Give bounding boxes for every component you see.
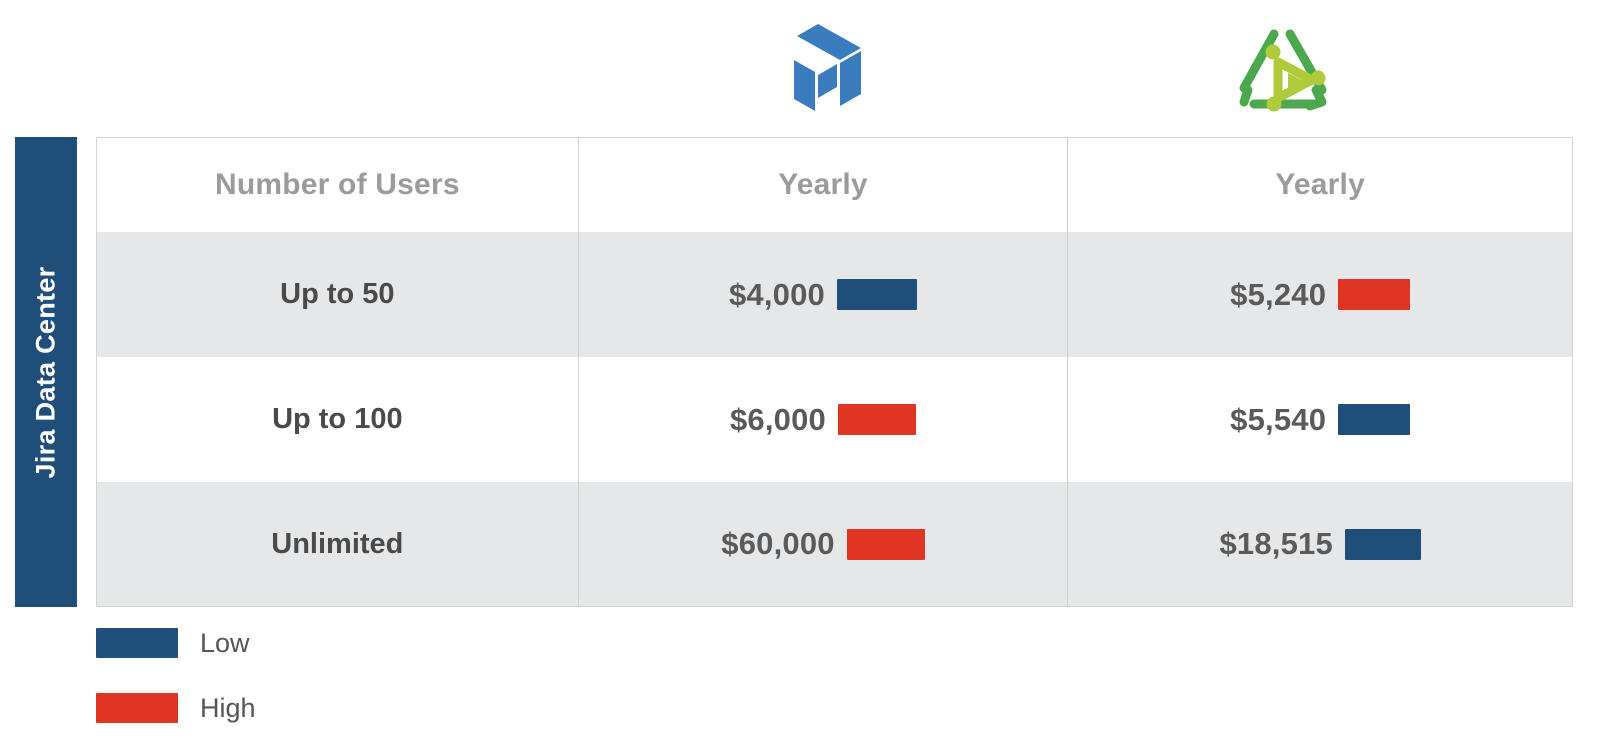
- pricing-table: Number of Users Yearly Yearly Up to 50 $…: [96, 137, 1573, 607]
- cell-users-tier: Unlimited: [97, 482, 578, 606]
- price-level-bar: [838, 404, 916, 435]
- legend-label-high: High: [200, 693, 256, 724]
- cell-price-vendor-a: $60,000: [578, 482, 1068, 606]
- header-label-vendor-b: Yearly: [1275, 168, 1365, 202]
- table-row: Unlimited $60,000 $18,515: [97, 482, 1572, 606]
- legend-item-low: Low: [96, 622, 256, 664]
- cell-price-vendor-b: $5,240: [1067, 232, 1572, 357]
- table-header-row: Number of Users Yearly Yearly: [97, 138, 1572, 232]
- header-cell-vendor-b: Yearly: [1067, 138, 1572, 232]
- cell-users-tier: Up to 50: [97, 232, 578, 357]
- product-side-label-text: Jira Data Center: [31, 266, 62, 478]
- legend-swatch-high: [96, 693, 178, 723]
- header-cell-users: Number of Users: [97, 138, 578, 232]
- cell-price-vendor-b: $18,515: [1067, 482, 1572, 606]
- header-label-users: Number of Users: [215, 168, 460, 202]
- price-level-bar: [847, 529, 925, 560]
- legend-item-high: High: [96, 687, 256, 729]
- price-value: $5,240: [1230, 277, 1326, 313]
- product-side-label: Jira Data Center: [15, 137, 77, 607]
- table-row: Up to 50 $4,000 $5,240: [97, 232, 1572, 357]
- cell-price-vendor-b: $5,540: [1067, 357, 1572, 482]
- green-triangle-play-logo: [1222, 18, 1342, 122]
- header-cell-vendor-a: Yearly: [578, 138, 1068, 232]
- legend-swatch-low: [96, 628, 178, 658]
- price-value: $18,515: [1219, 526, 1332, 562]
- price-level-bar: [1345, 529, 1421, 560]
- cell-price-vendor-a: $4,000: [578, 232, 1068, 357]
- price-level-bar: [837, 279, 917, 310]
- table-row: Up to 100 $6,000 $5,540: [97, 357, 1572, 482]
- pricing-comparison-page: Jira Data Center Number of Users Yearly …: [0, 0, 1600, 745]
- price-level-bar: [1338, 404, 1410, 435]
- price-value: $6,000: [730, 402, 826, 438]
- users-tier-label: Up to 50: [280, 278, 394, 311]
- price-value: $5,540: [1230, 402, 1326, 438]
- blue-isometric-cube-logo: [758, 18, 878, 122]
- cell-price-vendor-a: $6,000: [578, 357, 1068, 482]
- cell-users-tier: Up to 100: [97, 357, 578, 482]
- price-level-bar: [1338, 279, 1410, 310]
- users-tier-label: Unlimited: [271, 528, 403, 561]
- users-tier-label: Up to 100: [272, 403, 403, 436]
- legend-label-low: Low: [200, 628, 250, 659]
- legend: Low High: [96, 622, 256, 745]
- price-value: $60,000: [721, 526, 834, 562]
- header-label-vendor-a: Yearly: [778, 168, 868, 202]
- price-value: $4,000: [729, 277, 825, 313]
- vendor-logo-row: [0, 0, 1600, 137]
